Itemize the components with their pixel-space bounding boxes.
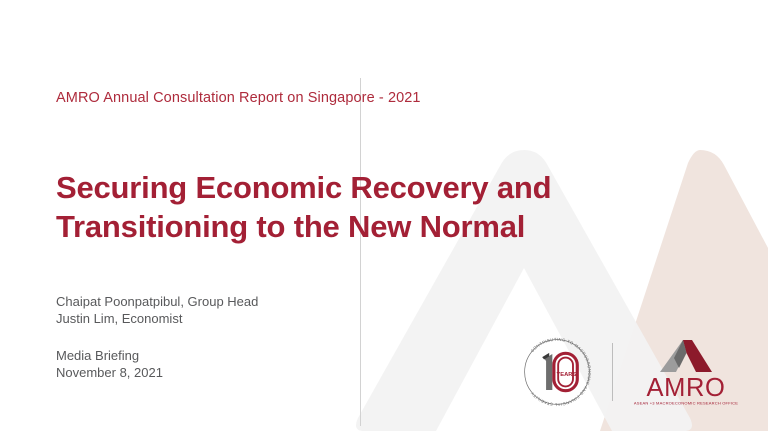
event-details: Media Briefing November 8, 2021 <box>56 347 163 382</box>
amro-chevron-icon <box>660 340 712 372</box>
report-series-label: AMRO Annual Consultation Report on Singa… <box>56 90 421 106</box>
event-name: Media Briefing <box>56 347 163 364</box>
presenter-primary: Chaipat Poonpatpibul, Group Head <box>56 293 258 310</box>
amro-tagline: ASEAN +3 MACROECONOMIC RESEARCH OFFICE <box>634 401 738 406</box>
event-date: November 8, 2021 <box>56 364 163 381</box>
page-title-line-1: Securing Economic Recovery and <box>56 169 656 208</box>
amro-logo: AMRO ASEAN +3 MACROECONOMIC RESEARCH OFF… <box>626 336 746 408</box>
presenter-list: Chaipat Poonpatpibul, Group Head Justin … <box>56 293 258 328</box>
page-title: Securing Economic Recovery and Transitio… <box>56 169 656 247</box>
seal-numeral-one <box>542 353 552 390</box>
page-title-line-2: Transitioning to the New Normal <box>56 208 656 247</box>
presenter-secondary: Justin Lim, Economist <box>56 310 258 327</box>
amro-10-years-anniversary-seal: CONTRIBUTING TO MACROECONOMIC AND FINANC… <box>518 333 596 411</box>
amro-wordmark-text: AMRO <box>647 374 726 402</box>
logo-separator <box>612 343 613 401</box>
seal-years-label: YEARS <box>556 372 576 378</box>
logo-lockup: CONTRIBUTING TO MACROECONOMIC AND FINANC… <box>518 333 750 411</box>
title-slide: AMRO Annual Consultation Report on Singa… <box>0 0 768 431</box>
